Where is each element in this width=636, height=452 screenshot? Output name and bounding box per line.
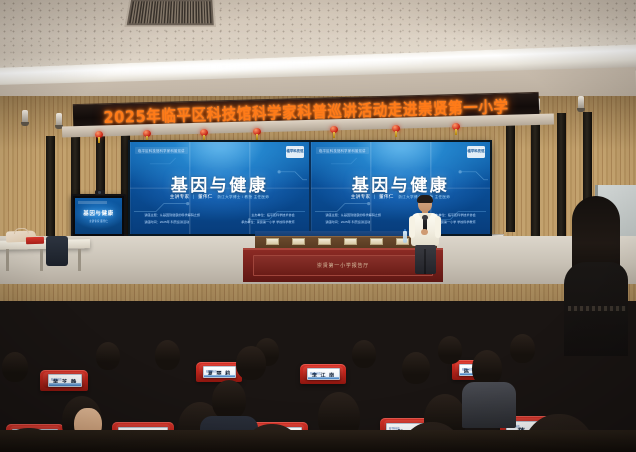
attendee-head <box>155 340 180 370</box>
slide-header: 临平区科技馆科学家科普巡讲 2025 <box>316 146 485 155</box>
acoustic-slat <box>46 136 55 244</box>
slide-title: 基因与健康 <box>311 171 490 196</box>
slide-header: 临平区科技馆科学家科普巡讲 2025 <box>135 146 304 155</box>
slide-footer-row: 讲座时间：2025年 科普巡讲活动 承办单位：崇贤第一小学 学校科学教育 <box>325 219 475 224</box>
attendee-head <box>2 352 28 382</box>
ceiling <box>0 0 636 96</box>
slide-speaker-line: 主讲专家 | 董伟仁 浙江大学博士 / 教授 主任医师 <box>311 194 490 200</box>
attendee-head <box>438 336 462 364</box>
slide-speaker-name: 董伟仁 <box>379 194 394 199</box>
lantern-decoration <box>143 130 151 137</box>
placard-school-logo: 临平科技馆 <box>462 367 472 371</box>
side-monitor[interactable]: 基因与健康 主讲专家 董伟仁 <box>71 194 126 238</box>
slide-footer-cell: 承办单位：崇贤第一小学 学校科学教育 <box>241 219 294 224</box>
attendee-head <box>212 380 246 420</box>
table-namecard <box>318 238 331 245</box>
seat-placard: 临平科技馆 李 江 南 <box>307 368 340 380</box>
side-monitor-screen: 基因与健康 主讲专家 董伟仁 <box>75 198 122 234</box>
side-monitor-header <box>78 201 107 204</box>
slide-affiliation: 浙江大学博士 / 教授 主任医师 <box>217 195 269 199</box>
slide-speaker-label: 主讲专家 <box>170 194 190 199</box>
attendee-head <box>510 334 535 363</box>
lantern-decoration <box>452 123 460 130</box>
placard-school-logo: 临平科技馆 <box>206 369 216 373</box>
table-namecard <box>292 238 305 245</box>
placard-school-logo: 临平科技馆 <box>389 426 399 430</box>
slide-separator: | <box>193 194 195 199</box>
water-bottle <box>403 231 407 243</box>
lantern-decoration <box>200 129 208 136</box>
placard-school-logo: 临平科技馆 <box>310 371 320 375</box>
slide-footer-cell: 主办单位：临平区科学技术协会 <box>251 212 294 217</box>
acoustic-slat <box>531 114 540 236</box>
ceiling-vent-grille <box>124 0 216 27</box>
acoustic-slat <box>506 114 515 232</box>
speaker-hair <box>417 195 433 203</box>
lantern-decoration <box>330 126 338 133</box>
speaker-arm-right <box>435 216 441 238</box>
slide-footer-cell: 讲座时间：2025年 科普巡讲活动 <box>144 219 189 224</box>
webcam-icon <box>95 190 105 195</box>
slide-separator: | <box>374 194 376 199</box>
seat-placard: 临平科技馆 夏 丽 莉 <box>203 366 236 378</box>
attendee-head <box>96 342 120 370</box>
slide-speaker-line: 主讲专家 | 董伟仁 浙江大学博士 / 教授 主任医师 <box>130 194 309 200</box>
placard-bar <box>204 375 235 377</box>
slide-title: 基因与健康 <box>130 171 309 196</box>
foreground-shadow <box>0 430 636 452</box>
side-monitor-subtitle: 主讲专家 董伟仁 <box>89 219 108 223</box>
vent-mesh <box>129 1 212 23</box>
lantern-decoration <box>253 128 261 135</box>
lantern-decoration <box>95 131 103 138</box>
attendee-head <box>472 350 502 386</box>
attendee-head <box>236 346 266 380</box>
slide-logo: 临平科技馆 <box>286 146 304 158</box>
table-namecard <box>266 238 279 245</box>
attendee-torso <box>462 382 516 428</box>
side-monitor-title: 基因与健康 <box>83 209 114 217</box>
ceiling-spotlight <box>578 96 584 109</box>
slide-speaker-label: 主讲专家 <box>351 194 371 199</box>
slide-right: 临平区科技馆科学家科普巡讲 2025 临平科技馆 基因与健康 主讲专家 | 董伟… <box>311 142 490 234</box>
slide-left: 临平区科技馆科学家科普巡讲 2025 临平科技馆 基因与健康 主讲专家 | 董伟… <box>130 142 309 234</box>
slide-footer: 讲座主题：从基因到健康的科学解码之旅 主办单位：临平区科学技术协会 讲座时间：2… <box>144 212 294 224</box>
slide-footer-cell: 讲座主题：从基因到健康的科学解码之旅 <box>325 212 381 217</box>
attendee-head <box>402 352 430 384</box>
slide-logo: 临平科技馆 <box>467 146 485 158</box>
ceiling-spotlight <box>22 110 28 123</box>
slide-footer-row: 讲座主题：从基因到健康的科学解码之旅 主办单位：临平区科学技术协会 <box>144 212 294 217</box>
placard-bar <box>308 377 339 379</box>
ceiling-spotlight <box>56 113 62 126</box>
auditorium-photo: 2025年临平区科技馆科学家科普巡讲活动走进崇贤第一小学 临平区科技馆科学家科普… <box>0 0 636 452</box>
slide-footer-cell: 讲座主题：从基因到健康的科学解码之旅 <box>144 212 200 217</box>
slide-footer-cell: 讲座时间：2025年 科普巡讲活动 <box>325 219 370 224</box>
red-folder <box>26 237 44 245</box>
slide-footer: 讲座主题：从基因到健康的科学解码之旅 主办单位：临平区科学技术协会 讲座时间：2… <box>325 212 475 224</box>
audience-area: 临平科技馆 黄 芝 静 临平科技馆 夏 丽 莉 临平科技馆 李 江 南 临平科技… <box>0 256 636 452</box>
table-namecard <box>344 238 357 245</box>
table-namecard <box>370 238 383 245</box>
attendee-head <box>352 340 376 368</box>
slide-speaker-name: 董伟仁 <box>198 194 213 199</box>
lantern-decoration <box>392 125 400 132</box>
acoustic-slat <box>557 113 566 236</box>
placard-bar <box>49 383 81 386</box>
slide-header-title: 临平区科技馆科学家科普巡讲 <box>135 147 188 154</box>
slide-footer-row: 讲座主题：从基因到健康的科学解码之旅 主办单位：临平区科学技术协会 <box>325 212 475 217</box>
slide-header-title: 临平区科技馆科学家科普巡讲 <box>316 147 369 154</box>
speaker-hand <box>421 229 428 235</box>
speaker-arm-left <box>409 216 415 238</box>
slide-footer-row: 讲座时间：2025年 科普巡讲活动 承办单位：崇贤第一小学 学校科学教育 <box>144 219 294 224</box>
seat-placard: 临平科技馆 黄 芝 静 <box>48 374 82 387</box>
placard-school-logo: 临平科技馆 <box>51 377 61 381</box>
